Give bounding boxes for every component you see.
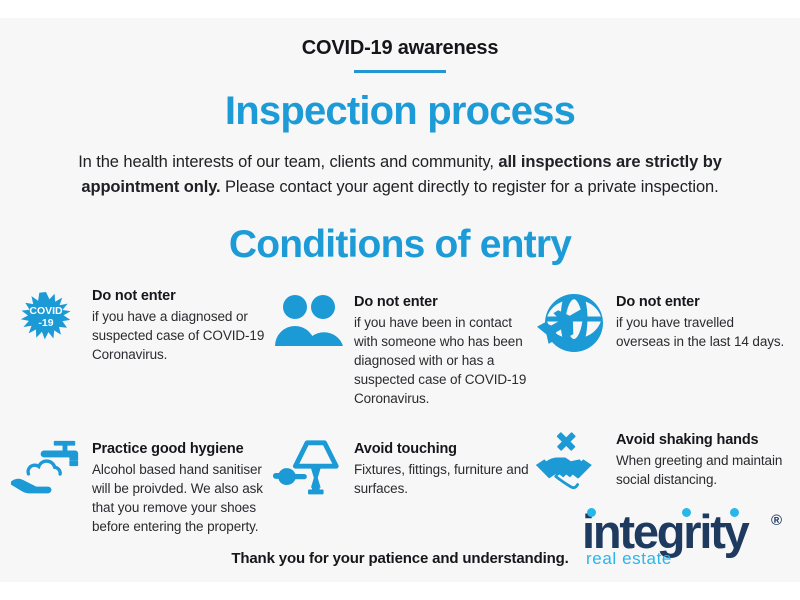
condition-description: Alcohol based hand sanitiser will be pro…	[92, 460, 267, 537]
condition-description: if you have travelled overseas in the la…	[616, 313, 791, 351]
eyebrow-title: COVID-19 awareness	[0, 18, 800, 60]
hand-washing-tap-icon	[9, 438, 83, 510]
globe-airplane-icon	[533, 291, 607, 363]
intro-text-part1: In the health interests of our team, cli…	[78, 153, 498, 171]
intro-paragraph: In the health interests of our team, cli…	[50, 150, 750, 201]
logo-dot-i-first	[587, 508, 596, 517]
page-title: Inspection process	[0, 73, 800, 134]
condition-title: Avoid shaking hands	[616, 431, 791, 449]
condition-text: Avoid shaking hands When greeting and ma…	[616, 429, 791, 489]
lamp-pointing-hand-icon	[271, 438, 345, 510]
logo-tagline: real estate	[586, 550, 672, 567]
condition-text: Do not enter if you have a diagnosed or …	[92, 285, 267, 365]
condition-title: Practice good hygiene	[92, 440, 267, 458]
condition-text: Practice good hygiene Alcohol based hand…	[92, 438, 267, 537]
condition-item-hygiene: Practice good hygiene Alcohol based hand…	[9, 429, 267, 537]
condition-title: Do not enter	[354, 293, 529, 311]
handshake-cross-icon	[533, 429, 607, 501]
covid-icon-label-top: COVID	[29, 305, 63, 317]
intro-text-part2: Please contact your agent directly to re…	[221, 178, 719, 196]
condition-title: Avoid touching	[354, 440, 529, 458]
registered-trademark-icon: ®	[771, 512, 782, 529]
two-people-icon	[271, 291, 345, 363]
covid-icon-label-bottom: -19	[38, 317, 53, 329]
condition-title: Do not enter	[92, 287, 267, 305]
condition-item-no-handshake: Avoid shaking hands When greeting and ma…	[533, 429, 791, 501]
logo-dot-i-third	[730, 508, 739, 517]
condition-item-contact: Do not enter if you have been in contact…	[271, 285, 529, 409]
condition-item-travel: Do not enter if you have travelled overs…	[533, 285, 791, 363]
conditions-grid: COVID -19 Do not enter if you have a dia…	[0, 285, 800, 537]
condition-title: Do not enter	[616, 293, 791, 311]
condition-text: Do not enter if you have travelled overs…	[616, 291, 791, 351]
condition-text: Avoid touching Fixtures, fittings, furni…	[354, 438, 529, 498]
integrity-logo: integrity ® real estate	[574, 506, 784, 568]
condition-item-avoid-touching: Avoid touching Fixtures, fittings, furni…	[271, 429, 529, 510]
condition-description: Fixtures, fittings, furniture and surfac…	[354, 460, 529, 498]
condition-text: Do not enter if you have been in contact…	[354, 291, 529, 409]
condition-item-covid-case: COVID -19 Do not enter if you have a dia…	[9, 285, 267, 365]
condition-description: if you have been in contact with someone…	[354, 313, 529, 409]
logo-wordmark: integrity	[582, 508, 748, 555]
poster-canvas: COVID-19 awareness Inspection process In…	[0, 18, 800, 582]
condition-description: if you have a diagnosed or suspected cas…	[92, 307, 267, 364]
logo-dot-i-second	[682, 508, 691, 517]
condition-description: When greeting and maintain social distan…	[616, 451, 791, 489]
conditions-heading: Conditions of entry	[0, 201, 800, 267]
covid-virus-icon: COVID -19	[9, 285, 83, 357]
